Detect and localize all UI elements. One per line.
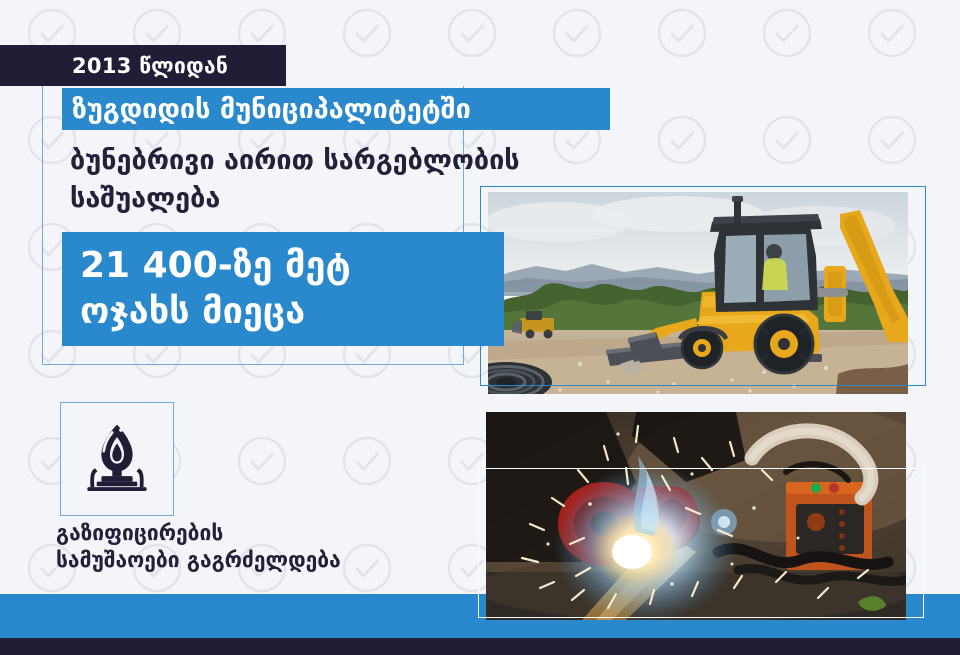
subtitle-block: ბუნებრივი აირით სარგებლობის საშუალება xyxy=(70,142,710,218)
footer-navy-bar xyxy=(0,638,960,655)
stat-line-2: ოჯახს მიეცა xyxy=(80,289,504,335)
footer-caption-line-2: სამუშაოები გაგრძელდება xyxy=(56,547,456,574)
subtitle-line-1: ბუნებრივი აირით სარგებლობის xyxy=(70,142,710,180)
year-strip: 2013 წლიდან xyxy=(0,45,286,86)
subtitle-line-2: საშუალება xyxy=(70,180,710,218)
stat-line-1: 21 400-ზე მეტ xyxy=(80,243,504,289)
bottom-photo-frame xyxy=(478,468,924,618)
footer-caption: გაზიფიცირების სამუშაოები გაგრძელდება xyxy=(56,520,456,574)
headline-text: ზუგდიდის მუნიციპალიტეტში xyxy=(72,96,471,123)
gas-icon-box xyxy=(60,402,174,516)
headline-band: ზუგდიდის მუნიციპალიტეტში xyxy=(62,88,610,130)
infographic-poster: 2013 წლიდან ზუგდიდის მუნიციპალიტეტში ბუნ… xyxy=(0,0,960,655)
year-label: 2013 წლიდან xyxy=(72,54,228,78)
gas-burner-flame-icon xyxy=(78,420,156,498)
stat-callout-box: 21 400-ზე მეტ ოჯახს მიეცა xyxy=(62,232,504,346)
footer-caption-line-1: გაზიფიცირების xyxy=(56,520,456,547)
